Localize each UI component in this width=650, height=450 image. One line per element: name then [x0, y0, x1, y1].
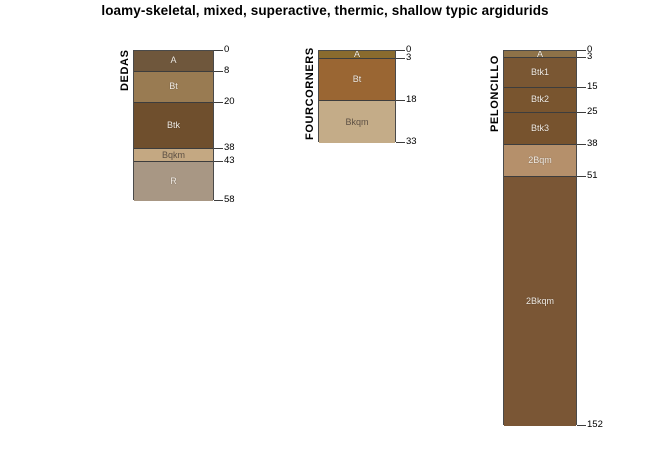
- profile-label-dedas: DEDAS: [119, 49, 131, 91]
- depth-tick-label: 152: [587, 420, 603, 430]
- depth-tick: [577, 144, 586, 145]
- horizon-label: Bt: [353, 75, 362, 84]
- horizon-btk1: Btk1: [504, 58, 576, 88]
- depth-tick: [214, 71, 223, 72]
- horizon-label: Btk3: [531, 124, 549, 133]
- depth-tick-label: 38: [587, 139, 598, 149]
- horizon-label: Btk1: [531, 68, 549, 77]
- profile-column-peloncillo: ABtk1Btk2Btk32Bqm2Bkqm: [503, 50, 577, 425]
- depth-tick-label: 8: [224, 66, 229, 76]
- depth-tick-label: 25: [587, 107, 598, 117]
- profile-label-fourcorners: FOURCORNERS: [304, 47, 316, 140]
- depth-tick: [214, 161, 223, 162]
- horizon-a: A: [504, 51, 576, 58]
- depth-tick: [577, 87, 586, 88]
- depth-tick-label: 3: [406, 53, 411, 63]
- horizon-btk2: Btk2: [504, 88, 576, 113]
- depth-tick: [214, 102, 223, 103]
- depth-tick-label: 18: [406, 95, 417, 105]
- horizon-a: A: [319, 51, 395, 59]
- depth-tick-label: 38: [224, 143, 235, 153]
- depth-tick: [214, 200, 223, 201]
- horizon-bt: Bt: [134, 72, 213, 103]
- horizon-label: A: [170, 56, 176, 65]
- depth-tick-label: 15: [587, 82, 598, 92]
- horizon-label: Bkqm: [345, 118, 368, 127]
- depth-tick: [577, 176, 586, 177]
- depth-tick: [396, 58, 405, 59]
- horizon-btk: Btk: [134, 103, 213, 150]
- horizon-btk3: Btk3: [504, 113, 576, 145]
- horizon-a: A: [134, 51, 213, 72]
- horizon-r: R: [134, 162, 213, 201]
- depth-tick: [577, 425, 586, 426]
- depth-tick: [577, 112, 586, 113]
- depth-tick-label: 3: [587, 52, 592, 62]
- depth-tick-label: 58: [224, 195, 235, 205]
- depth-tick: [396, 142, 405, 143]
- depth-tick: [396, 50, 405, 51]
- profile-label-peloncillo: PELONCILLO: [489, 55, 501, 132]
- depth-tick: [577, 50, 586, 51]
- depth-tick: [396, 100, 405, 101]
- horizon-bqkm: Bqkm: [134, 149, 213, 162]
- depth-tick-label: 33: [406, 137, 417, 147]
- profile-column-dedas: ABtBtkBqkmR: [133, 50, 214, 200]
- horizon-bkqm: Bkqm: [319, 101, 395, 143]
- horizon-label: Bt: [169, 82, 178, 91]
- horizon-label: Btk: [167, 121, 180, 130]
- depth-tick: [214, 50, 223, 51]
- depth-tick-label: 51: [587, 171, 598, 181]
- page-title: loamy-skeletal, mixed, superactive, ther…: [0, 3, 650, 18]
- depth-tick: [577, 57, 586, 58]
- horizon-2bkqm: 2Bkqm: [504, 177, 576, 426]
- horizon-label: 2Bkqm: [526, 297, 554, 306]
- horizon-label: Bqkm: [162, 151, 185, 160]
- depth-tick-label: 43: [224, 156, 235, 166]
- horizon-label: 2Bqm: [528, 156, 552, 165]
- depth-tick-label: 0: [224, 45, 229, 55]
- depth-tick-label: 20: [224, 97, 235, 107]
- horizon-label: Btk2: [531, 95, 549, 104]
- horizon-label: R: [170, 177, 177, 186]
- horizon-bt: Bt: [319, 59, 395, 101]
- horizon-label: A: [537, 51, 543, 58]
- depth-tick: [214, 148, 223, 149]
- profile-column-fourcorners: ABtBkqm: [318, 50, 396, 142]
- horizon-2bqm: 2Bqm: [504, 145, 576, 177]
- horizon-label: A: [354, 51, 360, 59]
